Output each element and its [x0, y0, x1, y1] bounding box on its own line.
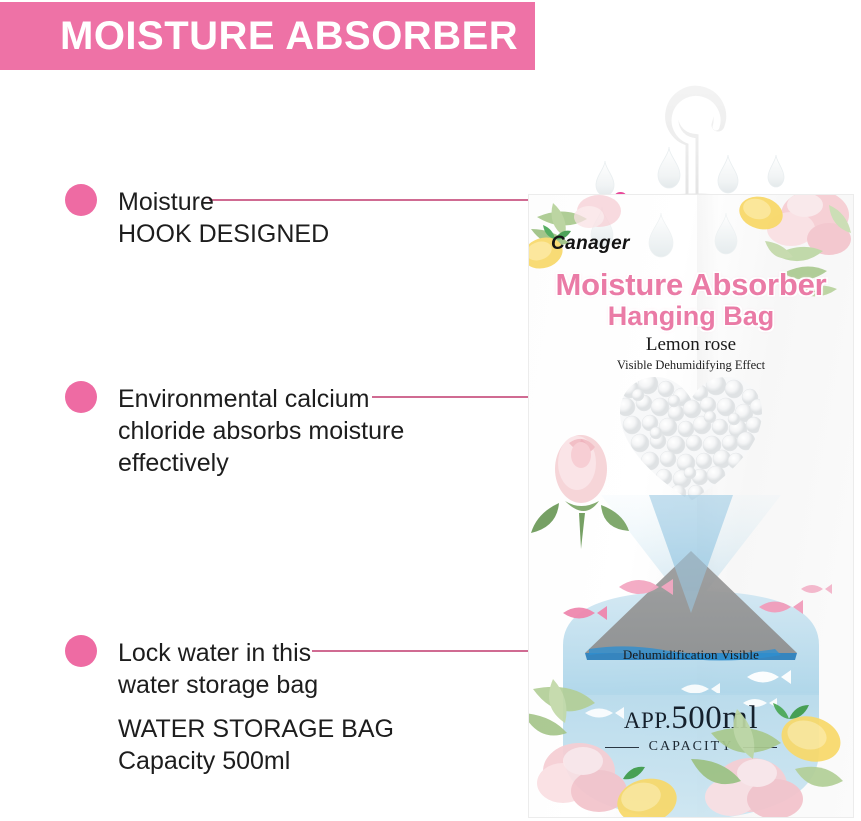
- calcium-beads-heart: [616, 373, 766, 508]
- callout-water-line-3: WATER STORAGE BAG: [118, 713, 394, 745]
- floral-decoration-bottom-left-icon: [528, 679, 693, 818]
- callout-hook-text: Moisture HOOK DESIGNED: [118, 186, 329, 250]
- package-scent: Lemon rose: [529, 334, 853, 356]
- callout-water-text: Lock water in this water storage bag WAT…: [118, 637, 394, 777]
- bullet-dot-water: [65, 635, 97, 667]
- package-scent-subtitle: Visible Dehumidifying Effect: [529, 358, 853, 373]
- hanger-hook-area: [560, 85, 830, 210]
- bullet-dot-calcium: [65, 381, 97, 413]
- infographic-canvas: MOISTURE ABSORBER Moisture HOOK DESIGNED…: [0, 0, 861, 821]
- dehumidification-visible-label: Dehumidification Visible: [529, 647, 853, 663]
- callout-hook-line-1: Moisture: [118, 186, 329, 218]
- callout-calcium-text: Environmental calcium chloride absorbs m…: [118, 383, 404, 479]
- header-banner: MOISTURE ABSORBER: [0, 2, 535, 70]
- callout-hook-line-2: HOOK DESIGNED: [118, 218, 329, 250]
- beads-heart-icon: [616, 373, 766, 508]
- bullet-dot-hook: [65, 184, 97, 216]
- callout-calcium-line-2: chloride absorbs moisture: [118, 415, 404, 447]
- package-title-sub: Hanging Bag: [529, 301, 853, 332]
- product-package: Canager Moisture Absorber Hanging Bag Le…: [528, 194, 854, 818]
- callout-calcium-line-1: Environmental calcium: [118, 383, 404, 415]
- callout-calcium-line-3: effectively: [118, 447, 404, 479]
- callout-water-line-4: Capacity 500ml: [118, 745, 394, 777]
- callout-water-line-2: water storage bag: [118, 669, 394, 701]
- callout-water-line-1: Lock water in this: [118, 637, 394, 669]
- floral-decoration-bottom-right-icon: [691, 673, 854, 818]
- fish-shape: [801, 584, 832, 594]
- page-title: MOISTURE ABSORBER: [0, 14, 518, 59]
- package-title-main: Moisture Absorber: [529, 267, 853, 303]
- rose-decoration-left-icon: [528, 421, 635, 551]
- brand-name: Canager: [551, 233, 630, 255]
